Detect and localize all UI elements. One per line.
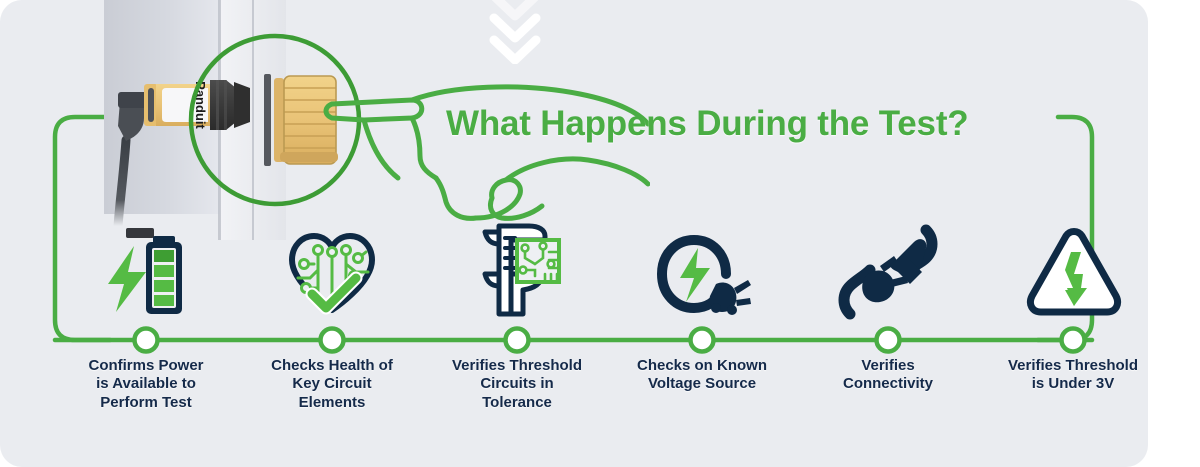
step-label: Verifies Threshold Circuits in Tolerance: [424, 357, 610, 412]
label-line: Elements: [239, 394, 425, 412]
plug-shape: [710, 280, 752, 315]
socket-half: [890, 230, 932, 284]
bolt-shape: [680, 248, 710, 302]
infographic-stage: Panduit: [0, 0, 1200, 467]
label-line: Checks Health of: [239, 357, 425, 375]
caliper-circuit-icon: [462, 218, 572, 322]
bolt-shape: [108, 246, 146, 312]
label-line: Perform Test: [53, 394, 239, 412]
label-line: Circuits in: [424, 375, 610, 393]
label-line: Connectivity: [795, 375, 981, 393]
label-line: Key Circuit: [239, 375, 425, 393]
step-label: Verifies Threshold is Under 3V: [980, 357, 1148, 394]
high-voltage-warning-icon: [1018, 218, 1128, 322]
label-line: Checks on Known: [609, 357, 795, 375]
plug-socket-icon: [833, 218, 943, 322]
step-label: Verifies Connectivity: [795, 357, 981, 394]
label-line: Verifies Threshold: [980, 357, 1148, 375]
chevron-down-icon: [478, 0, 552, 64]
step-label: Checks on Known Voltage Source: [609, 357, 795, 394]
label-line: Tolerance: [424, 394, 610, 412]
circuit-heart-check-icon: [277, 218, 387, 322]
infographic-card: Panduit: [0, 0, 1148, 467]
label-line: Confirms Power: [53, 357, 239, 375]
steps-container: Confirms Power is Available to Perform T…: [0, 0, 1148, 467]
label-line: Verifies Threshold: [424, 357, 610, 375]
label-line: Voltage Source: [609, 375, 795, 393]
power-plug-bolt-icon: [647, 218, 757, 322]
label-line: is Under 3V: [980, 375, 1148, 393]
step-label: Confirms Power is Available to Perform T…: [53, 357, 239, 412]
step-label: Checks Health of Key Circuit Elements: [239, 357, 425, 412]
label-line: Verifies: [795, 357, 981, 375]
label-line: is Available to: [53, 375, 239, 393]
battery-bolt-icon: [91, 218, 201, 322]
